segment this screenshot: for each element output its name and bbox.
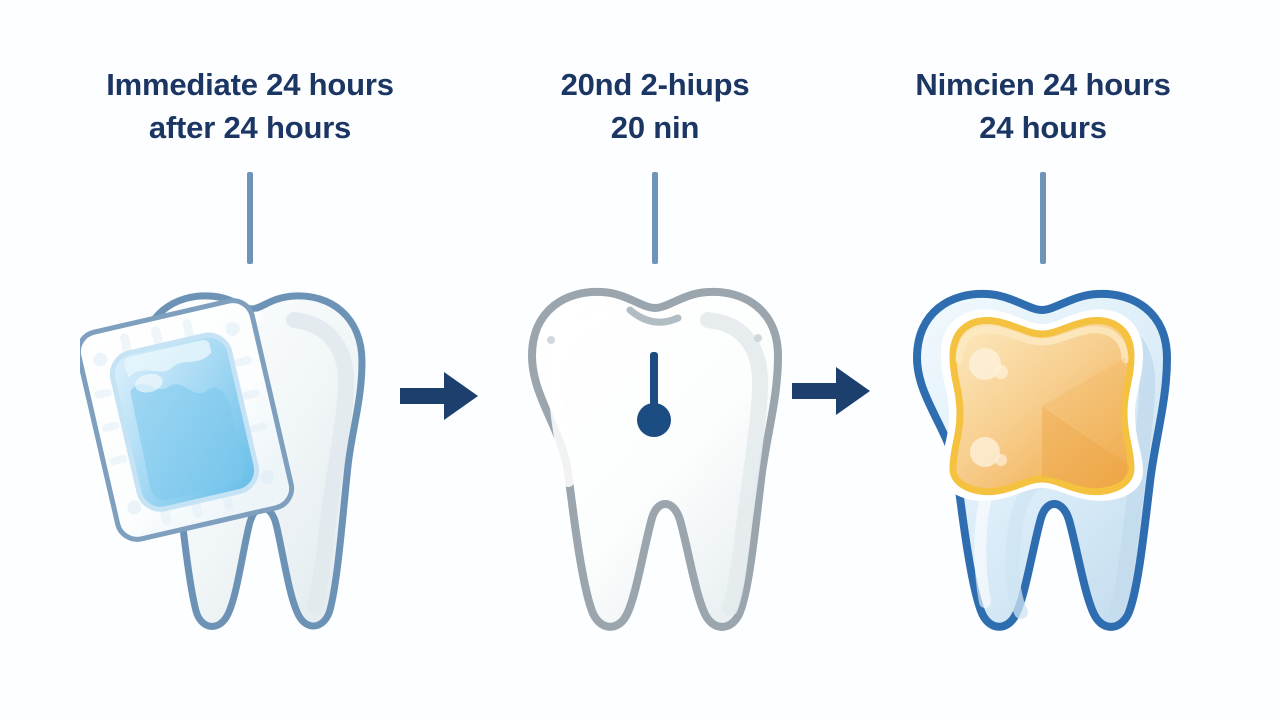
stage-panel-middle: 20nd 2-hiups 20 nin (455, 0, 855, 720)
tooth-with-gauze-pad-icon (80, 280, 420, 640)
connector-line-middle (652, 172, 658, 264)
stage-caption-immediate: Immediate 24 hours after 24 hours (60, 64, 440, 150)
connector-line-immediate (247, 172, 253, 264)
infographic-canvas: Immediate 24 hours after 24 hours (0, 0, 1280, 720)
tooth-body-shape (532, 291, 778, 626)
arrow-stage-2-to-3 (790, 363, 872, 419)
tooth-illustration-immediate (60, 280, 440, 650)
filling-bubble-4 (995, 454, 1007, 466)
filling-bubble-2 (994, 365, 1008, 379)
tooth-with-amber-filling-icon (893, 280, 1193, 640)
arrow-stage-1-to-2 (398, 368, 480, 424)
amber-filling-shape (953, 320, 1131, 491)
stage-panel-filled: Nimcien 24 hours 24 hours (843, 0, 1243, 720)
tooth-illustration-filled (853, 280, 1233, 650)
stage-caption-middle: 20nd 2-hiups 20 nin (465, 64, 845, 150)
stage-caption-filled: Nimcien 24 hours 24 hours (853, 64, 1233, 150)
filling-bubble-3 (970, 437, 1000, 467)
tooth-illustration-middle (465, 280, 845, 650)
arrow-right-icon (790, 363, 872, 419)
connector-line-filled (1040, 172, 1046, 264)
plain-tooth-with-pin-marker-icon (510, 280, 800, 640)
stage-panel-immediate: Immediate 24 hours after 24 hours (50, 0, 450, 720)
arrow-right-icon (398, 368, 480, 424)
